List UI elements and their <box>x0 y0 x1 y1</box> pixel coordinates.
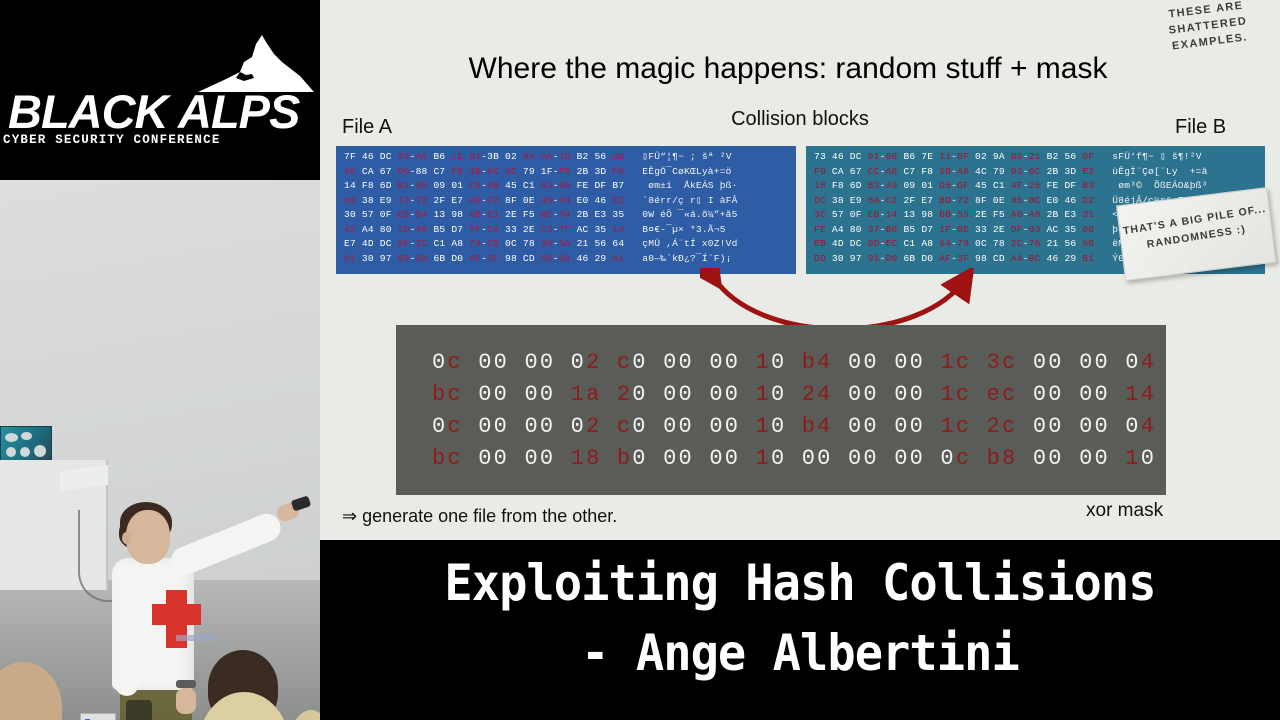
hex-byte: 67 <box>380 166 392 177</box>
hex-byte: 35 <box>594 224 606 235</box>
hex-byte: 45 <box>1011 195 1023 206</box>
hex-byte: 3D <box>594 166 606 177</box>
hex-byte: E0 <box>1047 195 1059 206</box>
hex-byte: 69 <box>416 180 428 191</box>
hex-byte: 98 <box>921 209 933 220</box>
cable <box>78 510 116 602</box>
hex-byte: 31 <box>1082 209 1094 220</box>
hex-byte: D2 <box>1082 195 1094 206</box>
hex-byte: D7 <box>451 224 463 235</box>
hex-byte: 94 <box>559 209 571 220</box>
hex-byte: 8F <box>957 151 969 162</box>
hex-byte: DF <box>1064 180 1076 191</box>
conference-logo: BLACK ALPS CYBER SECURITY CONFERENCE <box>0 0 320 180</box>
hex-byte: B5 <box>433 224 445 235</box>
handwritten-note-shattered: THESE ARE SHATTERED EXAMPLES. <box>1136 0 1280 58</box>
hex-byte: B3 <box>868 180 880 191</box>
hex-byte: B5 <box>903 224 915 235</box>
hex-byte: E7 <box>344 238 356 249</box>
hex-byte: 56 <box>1064 151 1076 162</box>
xor-mask-row: 0c 00 00 02 c0 00 00 10 b4 00 00 1c 3c 0… <box>432 347 1132 379</box>
hex-byte: DC <box>380 151 392 162</box>
xor-mask-row: bc 00 00 1a 20 00 00 10 24 00 00 1c ec 0… <box>432 379 1132 411</box>
hex-byte: A4 <box>832 224 844 235</box>
hexdump-row: 73 46 DC 91-66 B6 7E 11-8F 02 9A B6-21 B… <box>814 150 1259 165</box>
hex-byte: 4C <box>505 166 517 177</box>
hex-byte: A6 <box>416 151 428 162</box>
hex-byte: 98 <box>416 224 428 235</box>
hex-byte: C1 <box>523 180 535 191</box>
hexdump-ascii: ùÊgÌ¨Çø[¨Ly +=â <box>1112 166 1207 177</box>
hex-byte: 6D <box>380 180 392 191</box>
hex-byte: 45 <box>975 180 987 191</box>
hex-byte: 33 <box>975 224 987 235</box>
hex-byte: 8C <box>487 166 499 177</box>
hex-byte: C7 <box>433 166 445 177</box>
hex-byte: 5B <box>939 166 951 177</box>
av-device <box>80 713 116 720</box>
hex-byte: C2 <box>886 195 898 206</box>
hex-byte: 14 <box>886 209 898 220</box>
hex-byte: 6A <box>868 195 880 206</box>
hex-byte: 02 <box>975 151 987 162</box>
hex-byte: 13 <box>433 209 445 220</box>
hex-byte: 72 <box>416 195 428 206</box>
hex-byte: 38 <box>362 195 374 206</box>
hexdump-ascii: sFÜ‘f¶~ ▯ š¶!²V <box>1112 151 1201 162</box>
hex-byte: 2E <box>993 224 1005 235</box>
hex-byte: 01 <box>469 151 481 162</box>
hex-byte: 21 <box>1029 151 1041 162</box>
hex-byte: 4B <box>469 166 481 177</box>
hex-byte: 6B <box>487 180 499 191</box>
hexdump-row: F9 CA 67 CC-A8 C7 F8 5B-A8 4C 79 03-0C 2… <box>814 165 1259 180</box>
hex-byte: 56 <box>594 238 606 249</box>
hex-byte: E3 <box>1064 209 1076 220</box>
hex-byte: 2F <box>433 195 445 206</box>
hex-byte: 5A <box>559 238 571 249</box>
hex-byte: 6D <box>850 180 862 191</box>
hex-byte: A8 <box>886 166 898 177</box>
hex-byte: 46 <box>594 195 606 206</box>
hex-byte: AA <box>541 151 553 162</box>
speaker-head <box>126 510 170 564</box>
hex-byte: 61 <box>344 253 356 264</box>
hex-byte: 78 <box>523 238 535 249</box>
hex-byte: 46 <box>577 253 589 264</box>
hex-byte: 46 <box>1064 195 1076 206</box>
hex-byte: A4 <box>1011 253 1023 264</box>
hex-byte: 0C <box>975 238 987 249</box>
hex-byte: D4 <box>416 209 428 220</box>
hex-byte: 11 <box>939 151 951 162</box>
hex-byte: D7 <box>921 224 933 235</box>
hex-byte: 29 <box>594 253 606 264</box>
hex-byte: 7F <box>344 151 356 162</box>
hex-byte: 14 <box>612 224 624 235</box>
hex-byte: B2 <box>577 151 589 162</box>
hex-byte: 2D <box>398 224 410 235</box>
hex-byte: 1F <box>541 166 553 177</box>
hex-byte: 2A <box>487 224 499 235</box>
hex-byte: 2B <box>1047 209 1059 220</box>
hex-byte: E0 <box>577 195 589 206</box>
hexdump-row: 45 CA 67 D6-88 C7 F8 4B-8C 4C 79 1F-E0 2… <box>344 165 790 180</box>
hex-byte: F8 <box>362 180 374 191</box>
hex-byte: 2E <box>975 209 987 220</box>
hex-byte: 37 <box>868 224 880 235</box>
hex-byte: 93 <box>1029 224 1041 235</box>
hex-byte: 04 <box>559 195 571 206</box>
xor-mask-box: 0c 00 00 02 c0 00 00 10 b4 00 00 1c 3c 0… <box>396 325 1166 495</box>
hex-byte: 4D <box>362 238 374 249</box>
hexdump-ascii: `8érr/ç r▯ I àFÂ <box>642 195 737 206</box>
hex-byte: 3F <box>957 253 969 264</box>
hex-byte: B3 <box>1082 180 1094 191</box>
hex-byte: A8 <box>921 238 933 249</box>
hex-byte: C5 <box>469 180 481 191</box>
hex-byte: 3D <box>1064 166 1076 177</box>
hex-byte: E9 <box>398 209 410 220</box>
hex-byte: 00 <box>1082 224 1094 235</box>
hex-byte: A1 <box>612 253 624 264</box>
hex-byte: 72 <box>957 195 969 206</box>
hexdump-ascii: øm³© ÕßEÁO&þß³ <box>1112 180 1207 191</box>
hex-byte: 74 <box>469 238 481 249</box>
hex-byte: 2B <box>1047 166 1059 177</box>
hex-byte: 97 <box>380 253 392 264</box>
hex-byte: 14 <box>344 180 356 191</box>
hex-byte: C7 <box>903 166 915 177</box>
hexdump-row: E7 4D DC 0F-2C C1 A8 74-CD 0C 78 30-5A 2… <box>344 237 790 252</box>
hex-byte: 4F <box>1011 180 1023 191</box>
hex-byte: 1F <box>939 224 951 235</box>
hex-byte: AC <box>577 224 589 235</box>
hex-byte: B6 <box>903 151 915 162</box>
hex-byte: A4 <box>362 224 374 235</box>
hex-byte: 13 <box>903 209 915 220</box>
hexdump-row: 7F 46 DC 93-A6 B6 7E 01-3B 02 9A AA-1D B… <box>344 150 790 165</box>
hex-byte: E9 <box>850 195 862 206</box>
hex-byte: 30 <box>344 209 356 220</box>
hex-byte: AB <box>469 209 481 220</box>
book-prop <box>0 426 52 464</box>
hex-byte: AF <box>939 253 951 264</box>
hex-byte: B8 <box>886 224 898 235</box>
xor-mask-label: xor mask <box>1086 500 1163 522</box>
file-a-hexdump: 7F 46 DC 93-A6 B6 7E 01-3B 02 9A AA-1D B… <box>336 146 796 274</box>
hex-byte: F8 <box>832 180 844 191</box>
hex-byte: 0E <box>957 224 969 235</box>
slide-title: Where the magic happens: random stuff + … <box>368 52 1208 86</box>
hex-byte: 35 <box>1064 224 1076 235</box>
hex-byte: 01 <box>921 180 933 191</box>
hex-byte: 76 <box>1029 238 1041 249</box>
hex-byte: 56 <box>1064 238 1076 249</box>
hex-byte: BC <box>1029 253 1041 264</box>
audience-head <box>0 662 62 720</box>
hex-byte: E9 <box>380 195 392 206</box>
hex-byte: 6B <box>433 253 445 264</box>
hexdump-ascii: a0—‰`kÐ¿?¯Í¨F)¡ <box>642 253 731 264</box>
hex-byte: BC <box>1029 195 1041 206</box>
hex-byte: 46 <box>1047 253 1059 264</box>
wristwatch <box>176 680 196 688</box>
collision-blocks-label: Collision blocks <box>320 108 1280 131</box>
hex-byte: CA <box>362 166 374 177</box>
hex-byte: BB <box>939 209 951 220</box>
hex-byte: 93 <box>398 151 410 162</box>
hex-byte: 0C <box>1029 166 1041 177</box>
hex-byte: 4D <box>832 238 844 249</box>
hex-byte: 3C <box>814 209 826 220</box>
hex-byte: 80 <box>380 224 392 235</box>
hex-byte: C1 <box>903 238 915 249</box>
hex-byte: F8 <box>451 166 463 177</box>
hex-byte: CD <box>487 238 499 249</box>
file-a-label: File A <box>342 116 392 139</box>
hexdump-row: 42 A4 80 2D-98 B5 D7 0F-2A 33 2E C3-7F A… <box>344 223 790 238</box>
hex-byte: 7E <box>451 151 463 162</box>
hex-byte: DD <box>814 253 826 264</box>
hex-byte: 2B <box>577 166 589 177</box>
hex-byte: 98 <box>451 209 463 220</box>
hex-byte: 79 <box>993 166 1005 177</box>
hex-byte: 72 <box>398 195 410 206</box>
hex-byte: 21 <box>577 238 589 249</box>
hex-byte: 0F <box>850 209 862 220</box>
hex-byte: 2B <box>577 209 589 220</box>
hex-byte: 60 <box>416 253 428 264</box>
hex-byte: EC <box>886 238 898 249</box>
hex-byte: 03 <box>1011 166 1023 177</box>
hex-byte: 80 <box>850 224 862 235</box>
title-banner: Exploiting Hash Collisions - Ange Albert… <box>320 540 1280 720</box>
hex-byte: 72 <box>487 195 499 206</box>
hex-byte: 33 <box>505 224 517 235</box>
hexdump-row: 60 38 E9 72-72 2F E7 AD-72 8F 0E 49-04 E… <box>344 194 790 209</box>
hex-byte: 79 <box>957 238 969 249</box>
speaker-video <box>0 180 320 720</box>
audience-head <box>286 710 320 720</box>
hex-byte: 45 <box>505 180 517 191</box>
hex-byte: D6 <box>398 166 410 177</box>
hex-byte: 66 <box>886 151 898 162</box>
hex-byte: 2E <box>505 209 517 220</box>
hex-byte: 9A <box>993 151 1005 162</box>
hex-byte: DC <box>850 151 862 162</box>
hexdump-row: 30 57 0F E9-D4 13 98 AB-E1 2E F5 BC-94 2… <box>344 208 790 223</box>
hex-byte: 30 <box>832 253 844 264</box>
hex-byte: 53 <box>541 180 553 191</box>
hex-byte: A9 <box>886 180 898 191</box>
hex-byte: C3 <box>541 224 553 235</box>
video-frame: BLACK ALPS CYBER SECURITY CONFERENCE <box>0 0 1280 720</box>
hex-byte: 46 <box>832 151 844 162</box>
hex-byte: 0C <box>505 238 517 249</box>
tshirt-text <box>176 635 216 641</box>
hex-byte: 30 <box>541 238 553 249</box>
hex-byte: EB <box>814 238 826 249</box>
hex-byte: F5 <box>993 209 1005 220</box>
hex-byte: E7 <box>921 195 933 206</box>
hex-byte: A0 <box>1011 209 1023 220</box>
hex-byte: B1 <box>1082 253 1094 264</box>
hex-byte: 29 <box>1064 253 1076 264</box>
hex-byte: 98 <box>975 253 987 264</box>
hex-byte: 91 <box>868 151 880 162</box>
hex-byte: 0B <box>612 151 624 162</box>
hex-byte: 0F <box>1082 151 1094 162</box>
hexdump-ascii: çMÜ ,Á¨tÍ x0Z!Vd <box>642 238 737 249</box>
hex-byte: F5 <box>523 209 535 220</box>
hex-byte: 55 <box>957 209 969 220</box>
hex-byte: B6 <box>1011 151 1023 162</box>
hex-byte: 57 <box>832 209 844 220</box>
speaker-name: - Ange Albertini <box>349 624 1251 682</box>
hex-byte: 78 <box>993 238 1005 249</box>
hex-byte: BD <box>939 195 951 206</box>
hex-byte: F9 <box>814 166 826 177</box>
hex-byte: AD <box>469 195 481 206</box>
hex-byte: DF <box>594 180 606 191</box>
hex-byte: 97 <box>850 253 862 264</box>
hex-byte: 8F <box>469 253 481 264</box>
presentation-slide: Where the magic happens: random stuff + … <box>320 0 1280 540</box>
camera-panel: BLACK ALPS CYBER SECURITY CONFERENCE <box>0 0 320 720</box>
xor-mask-bytes: 0c 00 00 02 c0 00 00 10 b4 00 00 1c 3c 0… <box>432 347 1132 475</box>
hex-byte: 91 <box>868 253 880 264</box>
hex-byte: 38 <box>832 195 844 206</box>
hex-byte: C2 <box>612 195 624 206</box>
hex-byte: 49 <box>541 195 553 206</box>
hex-byte: 2F <box>903 195 915 206</box>
hex-byte: FE <box>814 224 826 235</box>
hex-byte: DC <box>380 238 392 249</box>
hex-byte: 0F <box>398 238 410 249</box>
hex-byte: 0D <box>868 238 880 249</box>
hex-byte: F8 <box>921 166 933 177</box>
hex-byte: 0F <box>469 224 481 235</box>
hex-byte: 64 <box>939 238 951 249</box>
talk-title: Exploiting Hash Collisions <box>349 554 1251 612</box>
hex-byte: B6 <box>433 151 445 162</box>
hexdump-row: 18 F8 6D B3-A9 09 01 D5-DF 45 C1 4F-26 F… <box>814 179 1259 194</box>
hex-byte: B2 <box>1047 151 1059 162</box>
hex-byte: DC <box>850 238 862 249</box>
hex-byte: E2 <box>1082 166 1094 177</box>
hex-byte: CC <box>868 166 880 177</box>
hexdump-ascii: øm±i ÅkEÁS þß· <box>642 180 737 191</box>
hex-byte: A8 <box>1029 209 1041 220</box>
hex-byte: 46 <box>362 151 374 162</box>
hex-byte: 79 <box>523 166 535 177</box>
hex-byte: CA <box>832 166 844 177</box>
hex-byte: FE <box>577 180 589 191</box>
hex-byte: 0F <box>380 209 392 220</box>
hex-byte: FE <box>1047 180 1059 191</box>
hex-byte: CD <box>523 253 535 264</box>
hex-byte: 2C <box>1011 238 1023 249</box>
logo-word-black: BLACK <box>8 88 167 135</box>
hex-byte: 56 <box>594 151 606 162</box>
hex-byte: 88 <box>416 166 428 177</box>
hex-byte: B1 <box>398 180 410 191</box>
slide-footnote: ⇒ generate one file from the other. <box>342 506 617 527</box>
hex-byte: 98 <box>505 253 517 264</box>
hex-byte: 0E <box>523 195 535 206</box>
hex-byte: D5 <box>939 180 951 191</box>
hex-byte: EB <box>868 209 880 220</box>
hex-byte: 30 <box>362 253 374 264</box>
hexdump-ascii: 0W éÔ ¯«á.õ¼”+ã5 <box>642 209 737 220</box>
hex-byte: 7F <box>559 224 571 235</box>
hex-byte: 60 <box>344 195 356 206</box>
hex-byte: D0 <box>921 253 933 264</box>
hex-byte: 60 <box>1082 238 1094 249</box>
hex-byte: 2C <box>416 238 428 249</box>
hex-byte: E3 <box>594 209 606 220</box>
logo-tagline: CYBER SECURITY CONFERENCE <box>3 133 221 147</box>
hex-byte: 09 <box>903 180 915 191</box>
hex-byte: 18 <box>814 180 826 191</box>
hex-byte: 8F <box>975 195 987 206</box>
hex-byte: 02 <box>505 151 517 162</box>
hexdump-ascii: B¤€-¯µ× *3.Ã¬5 <box>642 224 725 235</box>
hex-byte: DC <box>814 195 826 206</box>
hex-byte: C1 <box>993 180 1005 191</box>
hex-byte: 0A <box>559 180 571 191</box>
speaker-hand-2 <box>176 688 196 714</box>
hex-byte: 42 <box>344 224 356 235</box>
hex-byte: 3F <box>487 253 499 264</box>
hex-byte: 2E <box>523 224 535 235</box>
hex-byte: DF <box>957 180 969 191</box>
hexdump-ascii: ▯FÜ“¦¶~ ; šª ²V <box>642 151 731 162</box>
hex-byte: D0 <box>886 253 898 264</box>
hex-byte: A8 <box>541 253 553 264</box>
speaker-ear <box>122 532 131 544</box>
file-b-label: File B <box>1175 116 1226 139</box>
hex-byte: 64 <box>612 238 624 249</box>
hex-byte: BC <box>541 209 553 220</box>
hex-byte: 3B <box>487 151 499 162</box>
hex-byte: DF <box>1011 224 1023 235</box>
hex-byte: A8 <box>957 166 969 177</box>
xor-mask-row: 0c 00 00 02 c0 00 00 10 b4 00 00 1c 2c 0… <box>432 411 1132 443</box>
hex-byte: 8F <box>505 195 517 206</box>
hex-byte: 89 <box>398 253 410 264</box>
hex-byte: 7E <box>921 151 933 162</box>
hex-byte: 9A <box>523 151 535 162</box>
hex-byte: C1 <box>433 238 445 249</box>
belt-pouch <box>126 700 152 720</box>
hex-byte: 1D <box>559 151 571 162</box>
hexdump-row: 14 F8 6D B1-69 09 01 C5-6B 45 C1 53-0A F… <box>344 179 790 194</box>
hex-byte: B7 <box>612 180 624 191</box>
hex-byte: 21 <box>1047 238 1059 249</box>
hex-byte: 01 <box>451 180 463 191</box>
hex-byte: 6B <box>903 253 915 264</box>
hex-byte: 09 <box>433 180 445 191</box>
logo-word-alps: ALPS <box>178 88 299 135</box>
hex-byte: 73 <box>814 151 826 162</box>
hex-byte: AC <box>1047 224 1059 235</box>
hex-byte: 57 <box>362 209 374 220</box>
hex-byte: 04 <box>559 253 571 264</box>
hex-byte: F6 <box>612 166 624 177</box>
tshirt-cross-horizontal <box>152 604 201 625</box>
